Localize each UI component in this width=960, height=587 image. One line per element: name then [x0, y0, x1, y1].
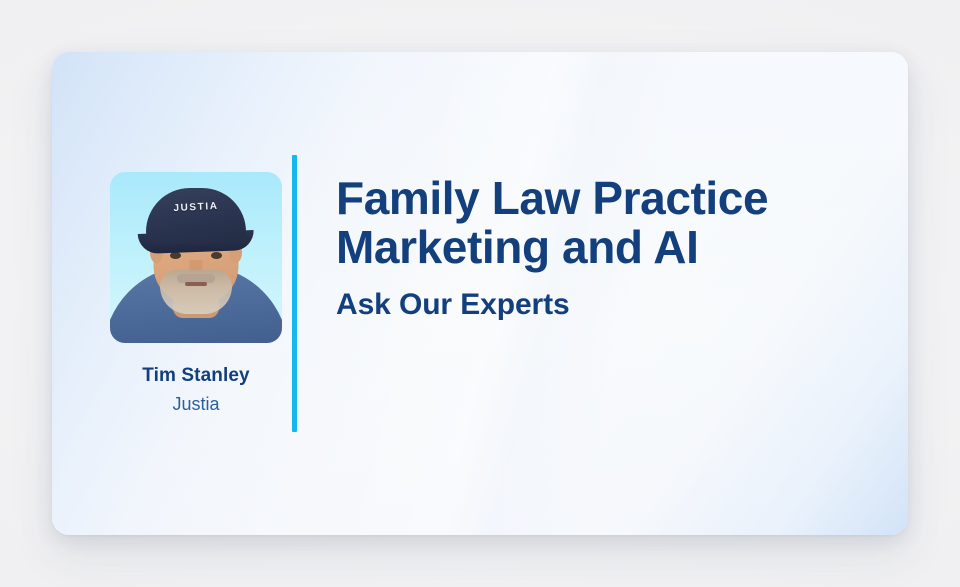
portrait-eye-left [170, 252, 181, 259]
speaker-photo: JUSTIA [110, 172, 282, 343]
portrait-eye-right [211, 252, 222, 259]
slide-title: Family Law Practice Marketing and AI [336, 174, 868, 272]
slide-subtitle: Ask Our Experts [336, 288, 868, 323]
title-block: Family Law Practice Marketing and AI Ask… [336, 174, 868, 323]
speaker-block: JUSTIA Tim Stanley Justia [84, 172, 308, 415]
speaker-name: Tim Stanley [84, 365, 308, 388]
slide-content: JUSTIA Tim Stanley Justia Family Law Pra… [52, 52, 908, 535]
vertical-accent-divider [292, 155, 297, 432]
page-background: JUSTIA Tim Stanley Justia Family Law Pra… [0, 0, 960, 587]
presentation-slide-card: JUSTIA Tim Stanley Justia Family Law Pra… [52, 52, 908, 535]
portrait-mouth [185, 282, 207, 286]
speaker-organization: Justia [84, 394, 308, 416]
portrait-cap [146, 188, 246, 244]
